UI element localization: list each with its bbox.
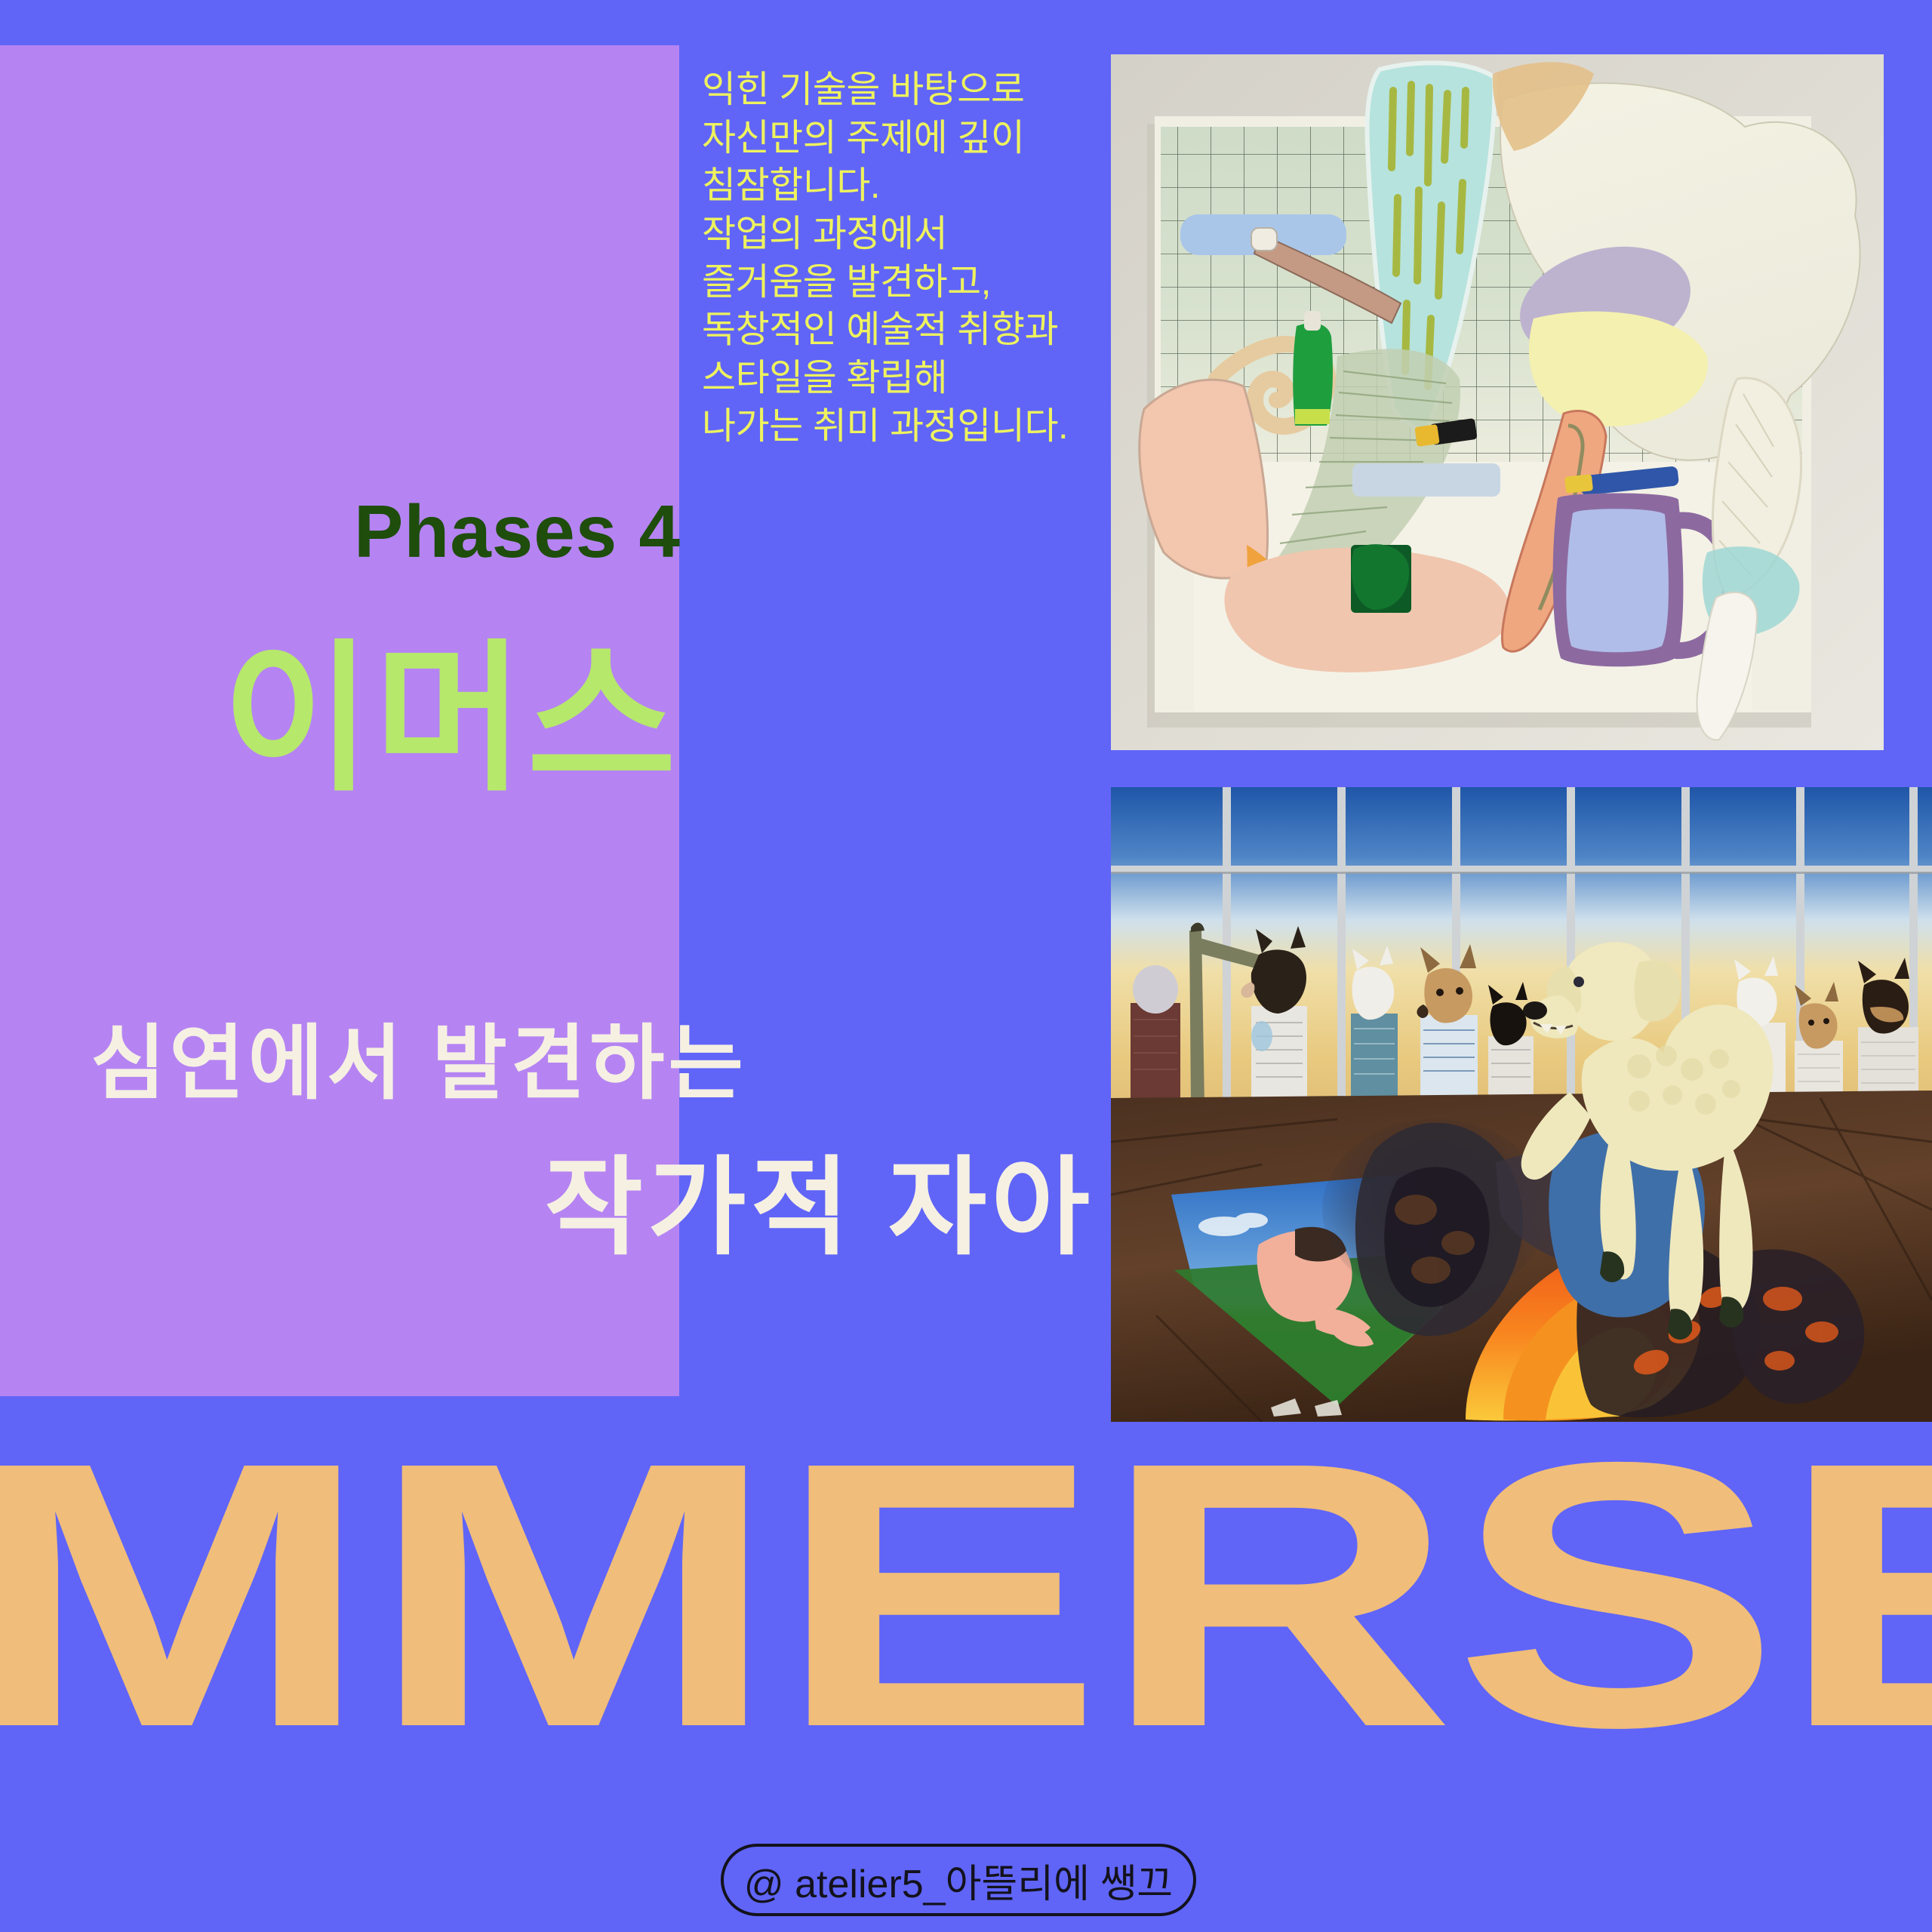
artwork-bottom-illustration: IMI KI	[1111, 787, 1932, 1422]
social-handle-label: @ atelier5_아뜰리에 쌩끄	[744, 1852, 1173, 1909]
artwork-top	[1111, 54, 1884, 750]
page-title-korean: 이머스	[113, 638, 679, 800]
social-handle-pill[interactable]: @ atelier5_아뜰리에 쌩끄	[721, 1844, 1196, 1916]
artwork-top-illustration	[1111, 54, 1884, 750]
poster-canvas: IMI KI	[0, 0, 1932, 1932]
body-copy: 익힌 기술을 바탕으로 자신만의 주제에 깊이 침잠합니다. 작업의 과정에서 …	[702, 66, 1124, 451]
eyebrow-phases: Phases 4	[281, 494, 681, 568]
artwork-bottom: IMI KI	[1111, 787, 1932, 1422]
wordmark-immerse: IMMERSE	[0, 1419, 1932, 1770]
subtitle-line-2: 작가적 자아	[91, 1155, 1094, 1262]
subtitle-line-1: 심연에서 발견하는	[91, 1023, 808, 1104]
